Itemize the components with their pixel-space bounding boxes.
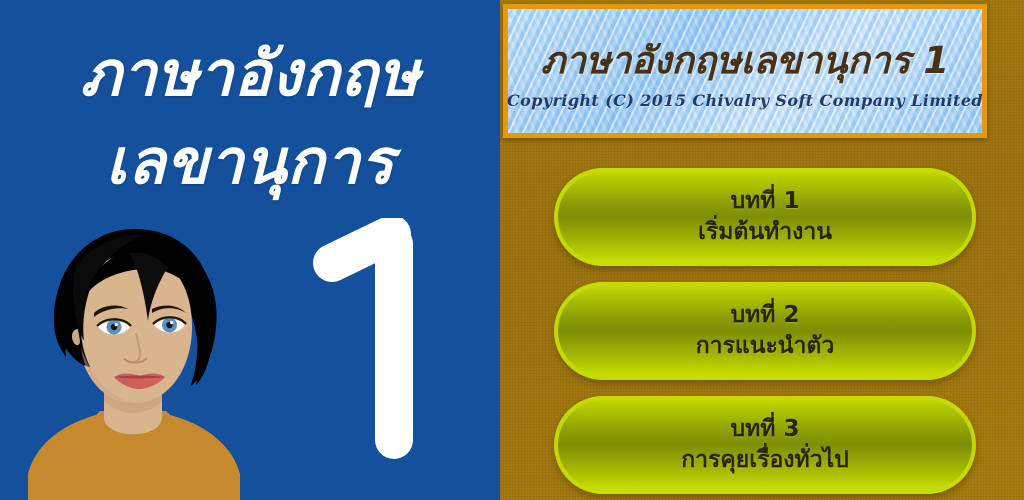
chapter-button-2[interactable]: บทที่ 2 การแนะนำตัว	[554, 282, 976, 380]
chapter-2-number: บทที่ 2	[731, 300, 800, 331]
numeral-one-graphic	[300, 218, 460, 468]
woman-portrait-illustration	[18, 225, 248, 500]
copyright-text: Copyright (C) 2015 Chivalry Soft Company…	[507, 92, 983, 110]
chapter-3-number: บทที่ 3	[731, 414, 800, 445]
menu-panel: ภาษาอังกฤษเลขานุการ 1 Copyright (C) 2015…	[500, 0, 1024, 500]
app-root: ภาษาอังกฤษ เลขานุการ	[0, 0, 1024, 500]
chapter-3-name: การคุยเรื่องทั่วไป	[681, 445, 849, 476]
chapter-2-name: การแนะนำตัว	[696, 331, 835, 362]
chapter-1-number: บทที่ 1	[731, 186, 800, 217]
header-banner: ภาษาอังกฤษเลขานุการ 1 Copyright (C) 2015…	[503, 4, 987, 138]
cover-title-line-2: เลขานุการ	[0, 128, 500, 196]
cover-title-line-1: ภาษาอังกฤษ	[0, 40, 500, 108]
chapter-button-1[interactable]: บทที่ 1 เริ่มต้นทำงาน	[554, 168, 976, 266]
chapter-1-name: เริ่มต้นทำงาน	[698, 217, 832, 248]
chapter-button-3[interactable]: บทที่ 3 การคุยเรื่องทั่วไป	[554, 396, 976, 494]
cover-panel: ภาษาอังกฤษ เลขานุการ	[0, 0, 500, 500]
header-title: ภาษาอังกฤษเลขานุการ 1	[541, 39, 949, 83]
